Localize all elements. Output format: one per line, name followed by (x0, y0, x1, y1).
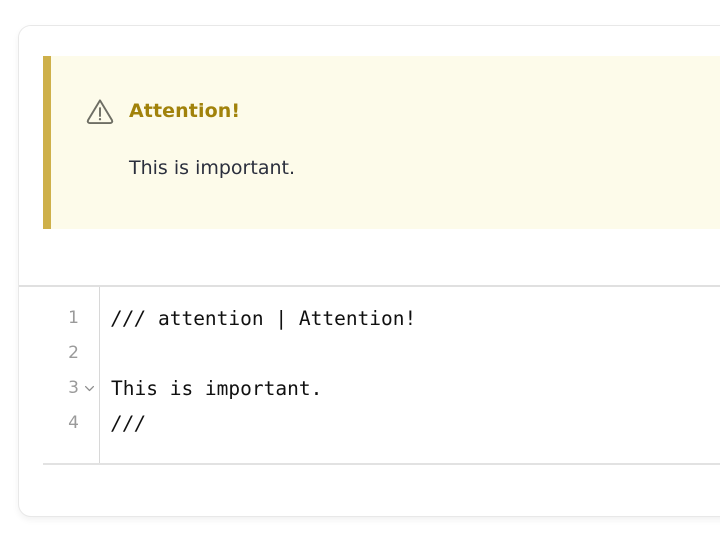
code-line-row[interactable]: 1 /// attention | Attention! (19, 301, 720, 336)
fold-marker-slot (82, 336, 96, 371)
line-number: 2 (68, 345, 79, 362)
warning-triangle-icon (85, 96, 115, 126)
comment-slashes: /// (111, 412, 146, 435)
code-line-row[interactable]: 4 /// (19, 406, 720, 441)
line-number: 3 (68, 380, 79, 397)
chevron-down-icon[interactable] (82, 371, 96, 406)
preview-code-card: Attention! This is important. 1 /// atte… (18, 25, 720, 517)
code-line-content: This is important. (96, 379, 322, 399)
code-line-rest: attention | Attention! (146, 307, 416, 330)
fold-marker-slot (82, 406, 96, 441)
line-number: 4 (68, 415, 79, 432)
code-line-list: 1 /// attention | Attention! 2 3 (19, 301, 720, 441)
code-pane-bottom-rule (43, 463, 720, 465)
rendered-preview-pane: Attention! This is important. (19, 26, 720, 285)
source-code-pane[interactable]: 1 /// attention | Attention! 2 3 (19, 287, 720, 463)
line-gutter: 3 (19, 371, 82, 406)
code-line-row[interactable]: 3 This is important. (19, 371, 720, 406)
admonition-body-text: This is important. (129, 159, 295, 178)
admonition-title: Attention! (129, 102, 240, 121)
comment-slashes: /// (111, 307, 146, 330)
line-number: 1 (68, 310, 79, 327)
code-line-content: /// (96, 414, 146, 434)
attention-admonition: Attention! This is important. (43, 56, 720, 229)
admonition-title-row: Attention! (85, 96, 240, 126)
line-gutter: 1 (19, 301, 82, 336)
code-line-rest: This is important. (111, 377, 322, 400)
line-gutter: 4 (19, 406, 82, 441)
fold-marker-slot (82, 301, 96, 336)
screenshot-root: Attention! This is important. 1 /// atte… (0, 0, 720, 544)
line-gutter: 2 (19, 336, 82, 371)
code-line-content: /// attention | Attention! (96, 309, 416, 329)
code-line-row[interactable]: 2 (19, 336, 720, 371)
